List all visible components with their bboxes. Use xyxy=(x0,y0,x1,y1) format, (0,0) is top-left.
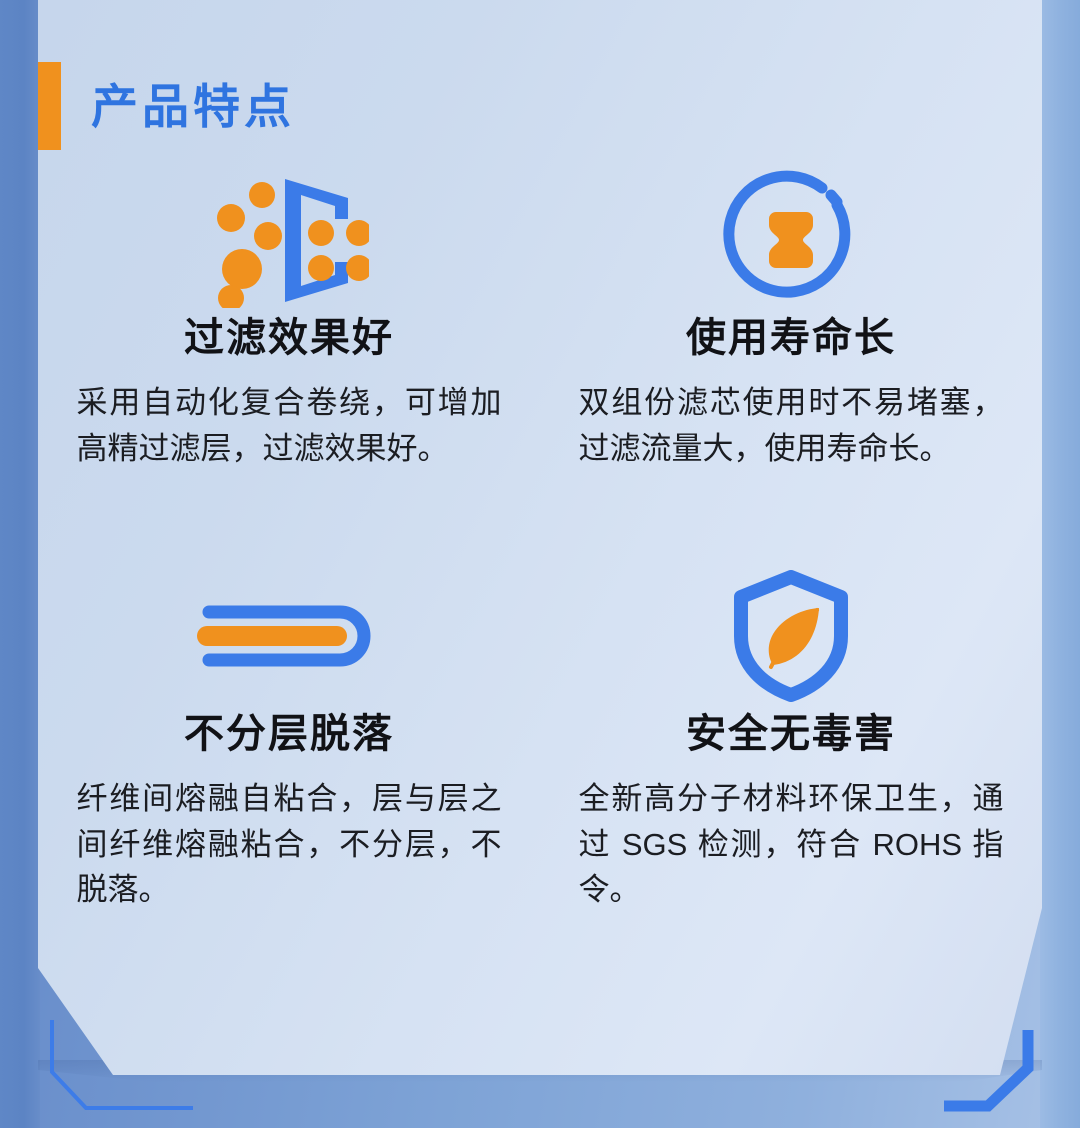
feature-title: 安全无毒害 xyxy=(686,714,896,754)
feature-card-2: 使用寿命长 双组份滤芯使用时不易堵塞，过滤流量大，使用寿命长。 xyxy=(540,170,1042,518)
feature-grid: 过滤效果好 采用自动化复合卷绕，可增加高精过滤层，过滤效果好。 使用寿命长 双组… xyxy=(38,170,1042,913)
infographic-page: 产品特点 xyxy=(0,0,1080,1128)
page-title: 产品特点 xyxy=(91,83,295,130)
feature-body: 双组份滤芯使用时不易堵塞，过滤流量大，使用寿命长。 xyxy=(579,380,1004,472)
feature-title: 不分层脱落 xyxy=(184,714,394,754)
feature-body: 纤维间熔融自粘合，层与层之间纤维熔融粘合，不分层，不脱落。 xyxy=(77,776,502,914)
hourglass-circle-icon xyxy=(721,170,861,310)
feature-card-4: 安全无毒害 全新高分子材料环保卫生，通过 SGS 检测，符合 ROHS 指令。 xyxy=(540,566,1042,914)
feature-body: 全新高分子材料环保卫生，通过 SGS 检测，符合 ROHS 指令。 xyxy=(579,776,1004,914)
feature-body: 采用自动化复合卷绕，可增加高精过滤层，过滤效果好。 xyxy=(77,380,502,472)
section-header: 产品特点 xyxy=(38,62,295,150)
shield-leaf-icon xyxy=(729,566,854,706)
feature-card-1: 过滤效果好 采用自动化复合卷绕，可增加高精过滤层，过滤效果好。 xyxy=(38,170,540,518)
feature-title: 过滤效果好 xyxy=(184,318,394,358)
layered-lines-icon xyxy=(197,566,382,706)
filter-membrane-icon xyxy=(209,170,369,310)
left-edge-band xyxy=(0,0,40,1128)
right-edge-band xyxy=(1040,0,1080,1128)
feature-card-3: 不分层脱落 纤维间熔融自粘合，层与层之间纤维熔融粘合，不分层，不脱落。 xyxy=(38,566,540,914)
header-accent-bar xyxy=(38,62,61,150)
feature-title: 使用寿命长 xyxy=(686,318,896,358)
